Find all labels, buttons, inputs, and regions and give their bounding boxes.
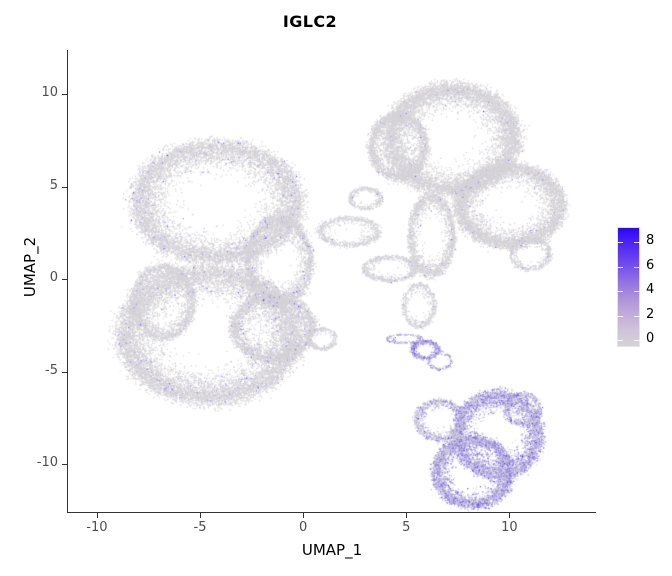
colorbar-tick-mark: [617, 242, 623, 243]
colorbar-tick-mark: [617, 340, 623, 341]
colorbar-tick-label: 0: [646, 332, 654, 345]
colorbar-tick-mark: [634, 242, 640, 243]
x-axis-line: [67, 512, 596, 513]
x-tick-label: 10: [489, 520, 529, 535]
x-tick-label: 0: [283, 520, 323, 535]
x-axis-title: UMAP_1: [68, 541, 596, 559]
colorbar-gradient: [617, 227, 640, 347]
y-tick-mark: [62, 279, 67, 280]
x-tick-label: -10: [77, 520, 117, 535]
y-tick-mark: [62, 187, 67, 188]
feature-plot-figure: IGLC2 1050-5-10 -10-50510 UMAP_1 UMAP_2 …: [0, 0, 672, 576]
y-tick-mark: [62, 94, 67, 95]
x-tick-mark: [406, 513, 407, 518]
x-tick-mark: [97, 513, 98, 518]
colorbar-tick-label: 8: [646, 234, 654, 247]
x-tick-label: 5: [386, 520, 426, 535]
y-axis-line: [67, 50, 68, 513]
x-tick-mark: [509, 513, 510, 518]
page-title: IGLC2: [0, 12, 620, 31]
colorbar-tick-mark: [617, 291, 623, 292]
colorbar-tick-label: 4: [646, 283, 654, 296]
x-tick-label: -5: [180, 520, 220, 535]
colorbar-tick-mark: [634, 340, 640, 341]
scatter-points-canvas: [68, 50, 596, 512]
scatter-panel: [68, 50, 596, 512]
y-axis-title: UMAP_2: [21, 167, 39, 367]
colorbar-tick-mark: [617, 316, 623, 317]
colorbar-tick-mark: [634, 267, 640, 268]
y-tick-label: -10: [18, 455, 58, 470]
y-tick-label: 10: [18, 85, 58, 100]
legend-colorbar: 86420: [612, 222, 672, 354]
colorbar-tick-mark: [634, 291, 640, 292]
colorbar-tick-label: 2: [646, 308, 654, 321]
colorbar-tick-label: 6: [646, 259, 654, 272]
x-tick-mark: [303, 513, 304, 518]
x-tick-mark: [200, 513, 201, 518]
y-tick-mark: [62, 464, 67, 465]
y-tick-mark: [62, 372, 67, 373]
colorbar-tick-mark: [617, 267, 623, 268]
colorbar-tick-mark: [634, 316, 640, 317]
